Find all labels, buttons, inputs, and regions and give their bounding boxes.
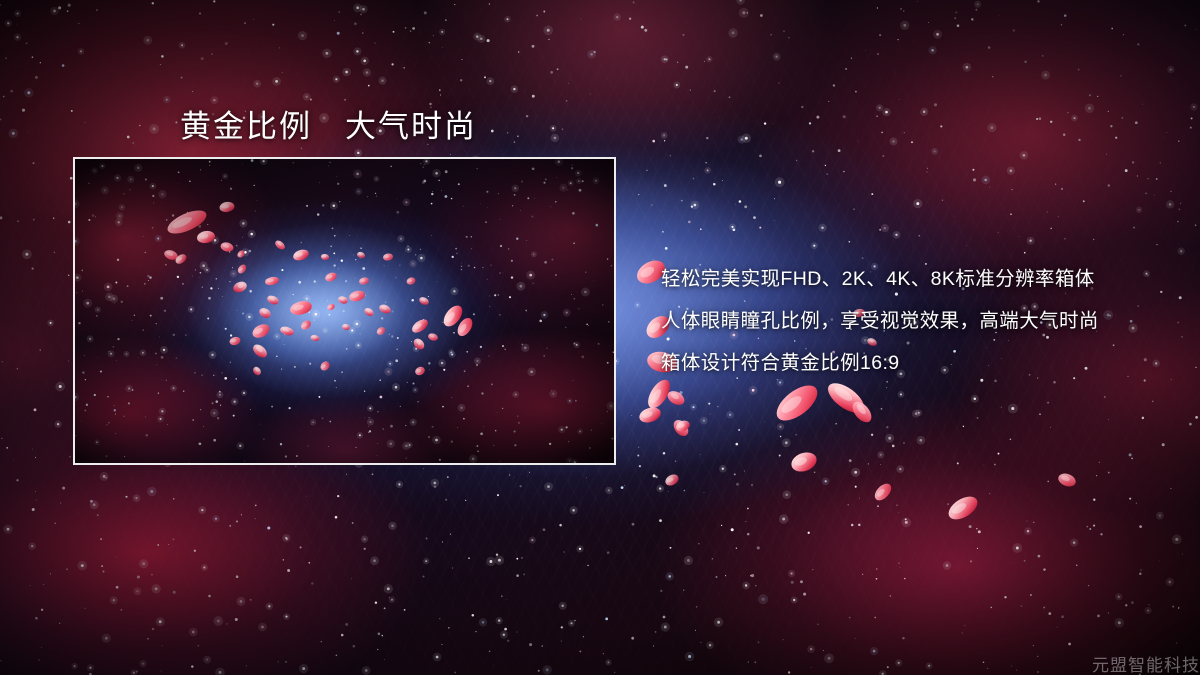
slide-title: 黄金比例 大气时尚 [180,101,477,146]
description-line-2: 人体眼睛瞳孔比例，享受视觉效果，高端大气时尚 [661,300,1161,342]
feature-description-block: 轻松完美实现FHD、2K、4K、8K标准分辨率箱体 人体眼睛瞳孔比例，享受视觉效… [661,258,1161,384]
frame-vignette [75,159,614,463]
presentation-slide: 黄金比例 大气时尚 轻松完美实现FHD、2K、4K、8K标准分辨率箱体 人体眼睛… [0,0,1200,675]
description-line-3: 箱体设计符合黄金比例16:9 [661,342,1161,384]
nebula-photo-frame [73,157,616,465]
company-watermark: 元盟智能科技 [1092,651,1200,675]
description-line-1: 轻松完美实现FHD、2K、4K、8K标准分辨率箱体 [661,258,1161,300]
